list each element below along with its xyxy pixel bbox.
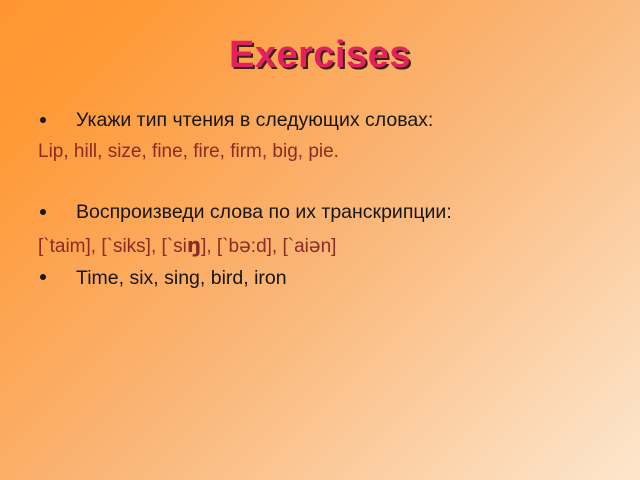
task1-instruction-text: Укажи тип чтения в следующих словах: — [76, 109, 433, 131]
bullet-dot-icon — [40, 274, 46, 280]
task2-transcription-line: [`taim], [`siks], [`siŋ], [`bə:d], [`aiə… — [0, 232, 640, 260]
bullet-dot-icon — [40, 209, 46, 215]
page-title: Exercises — [229, 36, 411, 76]
task2-instruction-line: Воспроизведи слова по их транскрипции: — [0, 200, 640, 226]
transcription-segment-4: n] — [321, 236, 337, 257]
transcription-segment-2: ], [`b — [201, 236, 239, 257]
section-spacer — [0, 166, 640, 200]
presentation-slide: Exercises Укажи тип чтения в следующих с… — [0, 0, 640, 480]
bullet-dot-icon — [40, 117, 46, 123]
task2-answers-text: Time, six, sing, bird, iron — [76, 267, 287, 289]
ipa-schwa-glyph: ə — [309, 235, 321, 257]
task1-word-list-text: Lip, hill, size, fine, fire, firm, big, … — [38, 141, 339, 162]
transcription-segment-1: [`taim], [`siks], [`si — [38, 236, 187, 257]
task2-instruction-text: Воспроизведи слова по их транскрипции: — [76, 201, 452, 223]
ipa-schwa-glyph: ə — [239, 235, 251, 257]
ipa-eng-glyph: ŋ — [187, 233, 201, 257]
task1-instruction-line: Укажи тип чтения в следующих словах: — [0, 108, 640, 134]
title-area: Exercises — [0, 36, 640, 76]
task1-word-list-line: Lip, hill, size, fine, fire, firm, big, … — [0, 140, 640, 166]
task2-answers-line: Time, six, sing, bird, iron — [0, 266, 640, 292]
slide-body: Укажи тип чтения в следующих словах: Lip… — [0, 108, 640, 292]
transcription-segment-3: :d], [`ai — [251, 236, 309, 257]
